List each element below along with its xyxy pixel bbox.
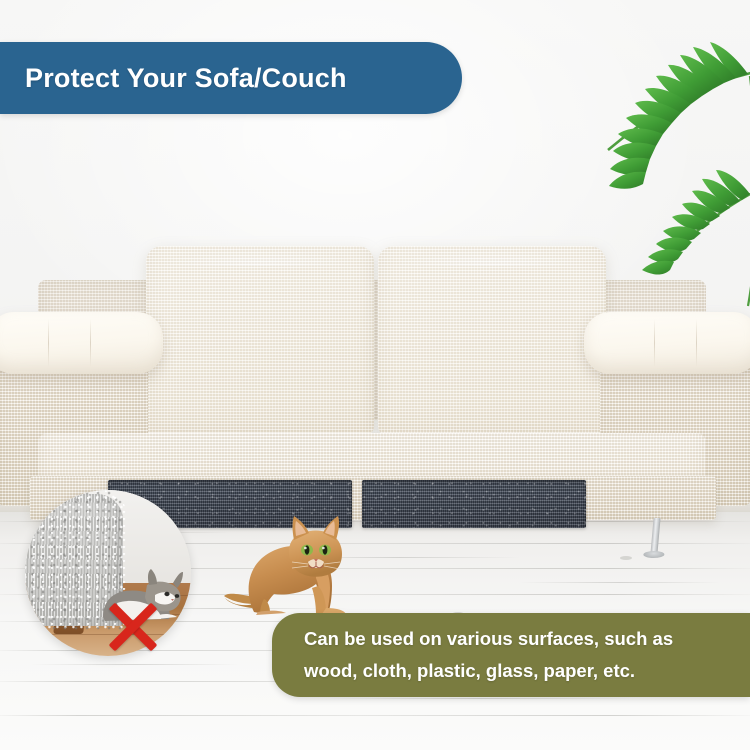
inset-cat — [95, 563, 187, 625]
cat-scratching-mat-right[interactable] — [362, 480, 586, 528]
cat-on-sofa — [222, 500, 382, 628]
caption-line-1: Can be used on various surfaces, such as — [304, 623, 732, 655]
sofa-back-cushion-right — [378, 246, 606, 436]
caption-line-2: wood, cloth, plastic, glass, paper, etc. — [304, 655, 732, 687]
sofa-arm-cushion-left — [0, 312, 163, 374]
sofa-arm-cushion-right — [584, 312, 750, 374]
sofa — [0, 228, 750, 528]
headline-banner: Protect Your Sofa/Couch — [0, 42, 462, 114]
product-image-canvas: Protect Your Sofa/Couch Can be used on v… — [0, 0, 750, 750]
sofa-back-cushion-left — [146, 246, 374, 436]
caption-banner: Can be used on various surfaces, such as… — [272, 613, 750, 697]
damaged-sofa-inset-photo — [25, 490, 191, 656]
headline-text: Protect Your Sofa/Couch — [0, 63, 347, 94]
